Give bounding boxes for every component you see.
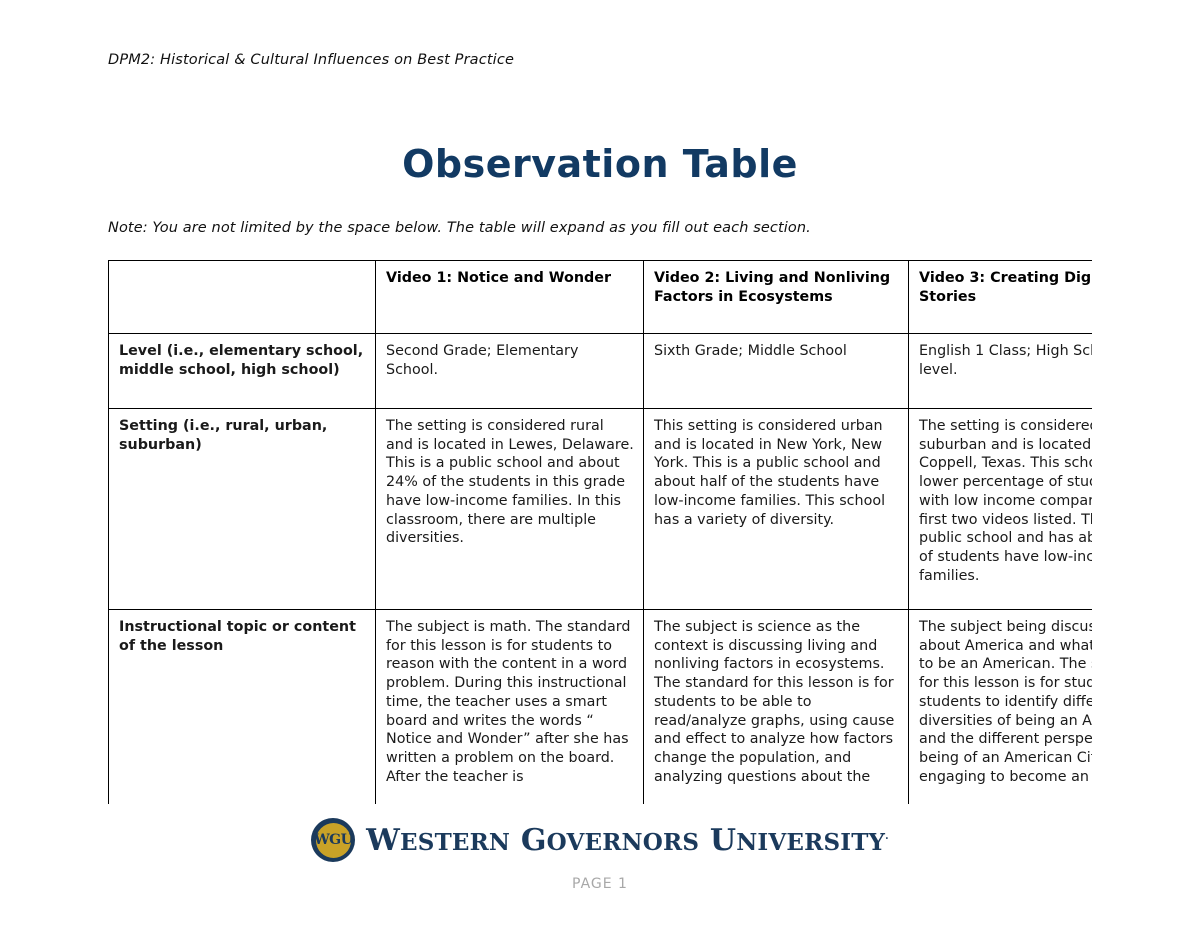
wordmark-g: G <box>521 823 547 858</box>
wgu-wordmark: WESTERN GOVERNORS UNIVERSITY. <box>366 823 889 858</box>
cell-setting-video-2[interactable]: This setting is considered urban and is … <box>644 409 909 610</box>
table-row: Instructional topic or content of the le… <box>109 610 1093 805</box>
wgu-seal-inner: WGU <box>316 823 351 858</box>
cell-setting-video-1[interactable]: The setting is considered rural and is l… <box>376 409 644 610</box>
wordmark-governors-rest: OVERNORS <box>547 829 700 856</box>
wordmark-w: W <box>366 823 400 858</box>
page-number: PAGE 1 <box>0 876 1200 892</box>
table-row: Level (i.e., elementary school, middle s… <box>109 334 1093 409</box>
instruction-note: Note: You are not limited by the space b… <box>108 220 811 236</box>
table-row: Setting (i.e., rural, urban, suburban) T… <box>109 409 1093 610</box>
wgu-seal-monogram: WGU <box>314 833 352 847</box>
column-header-video-2: Video 2: Living and Nonliving Factors in… <box>644 261 909 334</box>
cell-level-video-2[interactable]: Sixth Grade; Middle School <box>644 334 909 409</box>
document-page: DPM2: Historical & Cultural Influences o… <box>0 0 1200 927</box>
column-header-video-1: Video 1: Notice and Wonder <box>376 261 644 334</box>
page-title: Observation Table <box>0 142 1200 186</box>
cell-topic-video-2[interactable]: The subject is science as the context is… <box>644 610 909 805</box>
wgu-seal-icon: WGU <box>311 818 355 862</box>
cell-level-video-1[interactable]: Second Grade; Elementary School. <box>376 334 644 409</box>
row-label-instructional-topic: Instructional topic or content of the le… <box>109 610 376 805</box>
wordmark-u: U <box>710 823 736 858</box>
wgu-logo: WGU WESTERN GOVERNORS UNIVERSITY. <box>0 818 1200 862</box>
wordmark-university-rest: NIVERSITY <box>736 829 885 856</box>
observation-table: Video 1: Notice and Wonder Video 2: Livi… <box>108 260 1092 804</box>
cell-setting-video-3[interactable]: The setting is considered suburban and i… <box>909 409 1093 610</box>
cell-topic-video-1[interactable]: The subject is math. The standard for th… <box>376 610 644 805</box>
table-corner-cell <box>109 261 376 334</box>
row-label-level: Level (i.e., elementary school, middle s… <box>109 334 376 409</box>
wordmark-trademark: . <box>885 831 889 842</box>
cell-topic-video-3[interactable]: The subject being discussed is about Ame… <box>909 610 1093 805</box>
row-label-setting: Setting (i.e., rural, urban, suburban) <box>109 409 376 610</box>
table-header-row: Video 1: Notice and Wonder Video 2: Livi… <box>109 261 1093 334</box>
wordmark-western-rest: ESTERN <box>400 829 510 856</box>
running-header: DPM2: Historical & Cultural Influences o… <box>108 52 514 68</box>
cell-level-video-3[interactable]: English 1 Class; High School level. <box>909 334 1093 409</box>
column-header-video-3: Video 3: Creating Digital Stories <box>909 261 1093 334</box>
observation-table-container: Video 1: Notice and Wonder Video 2: Livi… <box>108 260 1092 804</box>
